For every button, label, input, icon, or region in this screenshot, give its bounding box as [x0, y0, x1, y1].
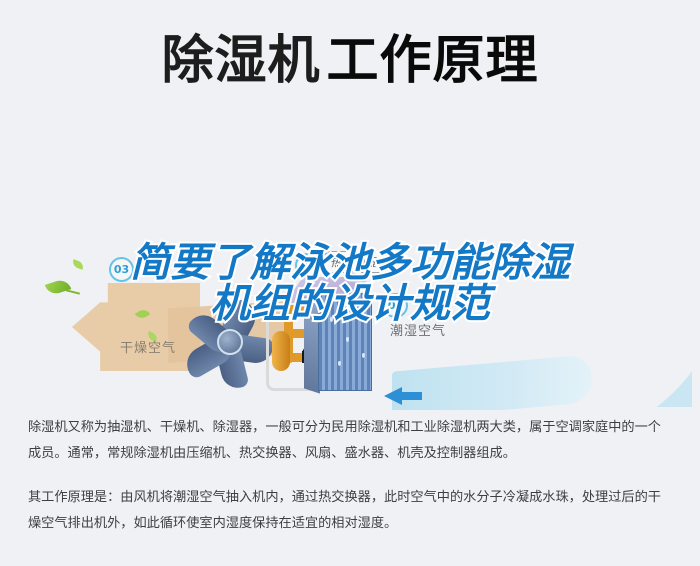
condensation-droplet	[362, 353, 365, 358]
page-title: 除湿机工作原理	[161, 18, 538, 93]
article-paragraph-1: 除湿机又称为抽湿机、干燥机、除湿器，一般可分为民用除湿机和工业除湿机两大类，属于…	[28, 415, 674, 467]
humid-air-arrow-tail	[400, 392, 422, 400]
condensation-droplet	[338, 361, 341, 366]
page-title-part2: 工作原理	[327, 31, 539, 91]
header-banner: 除湿机工作原理	[0, 0, 700, 110]
page-root: 除湿机工作原理	[0, 0, 700, 566]
article-body: 除湿机又称为抽湿机、干燥机、除湿器，一般可分为民用除湿机和工业除湿机两大类，属于…	[28, 415, 674, 537]
overlay-headline-line1: 简要了解泳池多功能除湿	[0, 243, 700, 284]
page-title-part1: 除湿机	[161, 31, 320, 91]
overlay-headline-line2: 机组的设计规范	[0, 284, 700, 325]
dry-air-label: 干燥空气	[120, 337, 176, 356]
article-paragraph-2: 其工作原理是：由风机将潮湿空气抽入机内，通过热交换器，此时空气中的水分子冷凝成水…	[28, 485, 674, 537]
fan-hub	[217, 329, 243, 355]
humid-air-band-graphic	[392, 354, 592, 410]
overlay-headline: 简要了解泳池多功能除湿 机组的设计规范	[0, 243, 700, 325]
step-note-condensation: 蒸发器冷凝成水珠	[383, 408, 495, 410]
copper-cylinder	[272, 331, 290, 371]
condensation-droplet	[346, 337, 349, 342]
